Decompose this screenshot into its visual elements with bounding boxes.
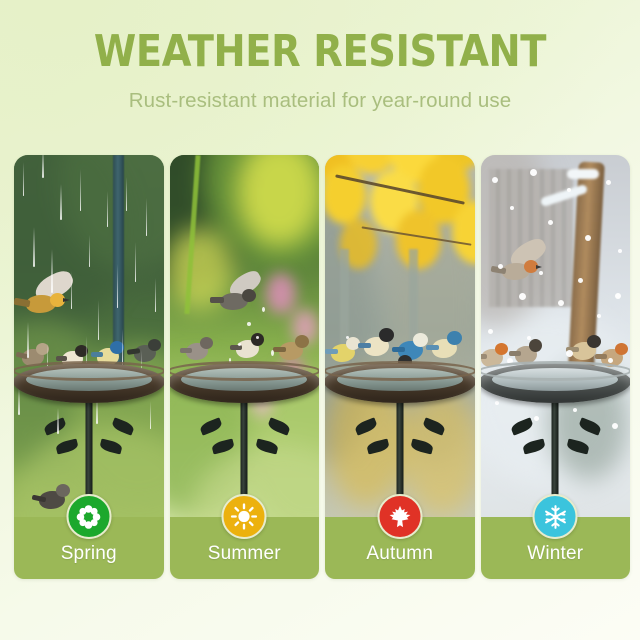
season-label-spring: Spring — [14, 543, 164, 565]
autumn-photo — [325, 155, 475, 517]
bird-bath — [481, 363, 631, 415]
page-title: WEATHER RESISTANT — [10, 0, 631, 78]
badge-snowflake-icon[interactable] — [533, 494, 578, 539]
sun-icon — [231, 503, 258, 530]
bird-flying — [493, 247, 553, 291]
badge-flower-icon[interactable] — [66, 494, 111, 539]
winter-photo — [481, 155, 631, 517]
bird-perched — [276, 333, 310, 365]
bird-bath — [325, 363, 475, 415]
bird-splashing — [212, 277, 268, 317]
bird-perched — [184, 335, 214, 365]
spring-photo — [14, 155, 164, 517]
badge-maple-leaf-icon[interactable] — [377, 494, 422, 539]
season-label-autumn: Autumn — [325, 543, 475, 565]
badge-sun-icon[interactable] — [222, 494, 267, 539]
season-panel-winter[interactable]: Winter — [481, 155, 631, 579]
snowflake-icon — [542, 504, 568, 530]
page-subtitle: Rust-resistant material for year-round u… — [0, 78, 640, 115]
season-label-winter: Winter — [481, 543, 631, 565]
season-label-summer: Summer — [170, 543, 320, 565]
flower-icon — [76, 504, 102, 530]
bird-bath — [14, 363, 164, 415]
maple-leaf-icon — [387, 504, 412, 529]
bird-blue-tit — [429, 329, 465, 363]
season-panel-strip: Spring — [14, 155, 630, 579]
bird-perched — [234, 331, 266, 363]
bird-flying — [16, 281, 80, 325]
summer-photo — [170, 155, 320, 517]
season-panel-spring[interactable]: Spring — [14, 155, 164, 579]
season-panel-summer[interactable]: Summer — [170, 155, 320, 579]
header: WEATHER RESISTANT Rust-resistant materia… — [0, 0, 640, 115]
bird-bath — [170, 363, 320, 415]
bird-perched — [569, 333, 603, 365]
season-panel-autumn[interactable]: Autumn — [325, 155, 475, 579]
